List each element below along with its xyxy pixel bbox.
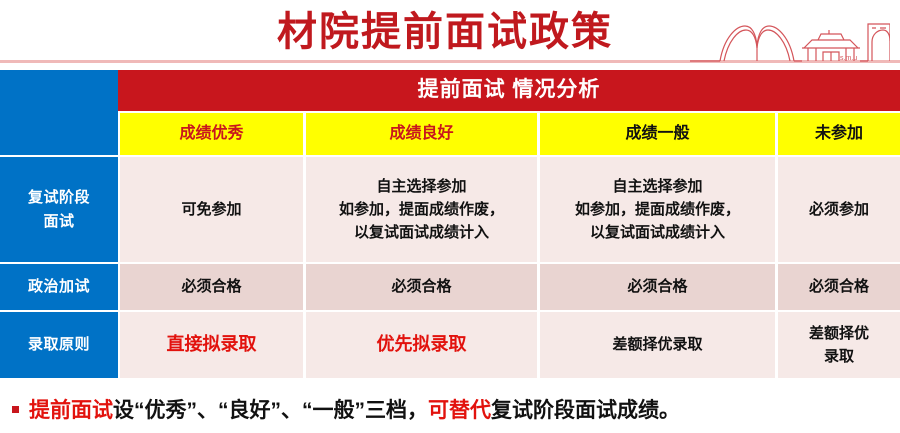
- column-header-average: 成绩一般: [540, 113, 775, 155]
- cell-line: 自主选择参加: [575, 175, 740, 198]
- footnote-segment-2: 设“优秀”、“良好”、“一般”三档，: [113, 399, 428, 422]
- table-cell-r2c1: 必须合格: [120, 264, 303, 310]
- policy-table: 提前面试 情况分析 成绩优秀 成绩良好 成绩一般 未参加 复试阶段 面试 可免参…: [0, 70, 900, 378]
- cell-line: 必须合格: [181, 275, 241, 298]
- row-header-political-test: 政治加试: [0, 264, 118, 310]
- table-cell-r2c2: 必须合格: [306, 264, 537, 310]
- table-corner-cell: [0, 70, 118, 155]
- cell-line: 自主选择参加: [339, 175, 504, 198]
- column-header-not-attended: 未参加: [778, 113, 900, 155]
- skyline-label: s.m.u: [840, 55, 857, 62]
- row-header-retest-interview: 复试阶段 面试: [0, 157, 118, 262]
- cell-line: 差额择优: [809, 322, 869, 345]
- cell-line: 直接拟录取: [167, 331, 257, 359]
- table-cell-r2c4: 必须合格: [778, 264, 900, 310]
- table-band-header: 提前面试 情况分析: [118, 70, 900, 111]
- table-cell-r1c3: 自主选择参加 如参加，提面成绩作废， 以复试面试成绩计入: [540, 157, 775, 262]
- cell-line: 如参加，提面成绩作废，: [339, 198, 504, 221]
- row-header-admission-principle: 录取原则: [0, 312, 118, 378]
- table-cell-r2c3: 必须合格: [540, 264, 775, 310]
- cell-line: 必须合格: [627, 275, 687, 298]
- table-cell-r3c3: 差额择优录取: [540, 312, 775, 378]
- footnote: 提前面试设“优秀”、“良好”、“一般”三档，可替代复试阶段面试成绩。: [0, 385, 900, 433]
- cell-line: 差额择优录取: [612, 333, 702, 356]
- row-header-line: 复试阶段: [28, 186, 90, 209]
- table-cell-r1c2: 自主选择参加 如参加，提面成绩作废， 以复试面试成绩计入: [306, 157, 537, 262]
- cell-line: 如参加，提面成绩作废，: [575, 198, 740, 221]
- column-header-excellent: 成绩优秀: [120, 113, 303, 155]
- cell-line: 以复试面试成绩计入: [575, 221, 740, 244]
- footnote-segment-1: 提前面试: [29, 399, 113, 422]
- table-cell-r3c4: 差额择优 录取: [778, 312, 900, 378]
- column-header-good: 成绩良好: [306, 113, 537, 155]
- campus-skyline-icon: s.m.u: [690, 16, 890, 64]
- footnote-segment-4: 复试阶段面试成绩。: [491, 399, 680, 422]
- row-header-line: 政治加试: [28, 275, 90, 298]
- table-cell-r1c1: 可免参加: [120, 157, 303, 262]
- cell-line: 可免参加: [181, 198, 241, 221]
- row-header-line: 面试: [28, 210, 90, 233]
- footnote-segment-3: 可替代: [428, 399, 491, 422]
- table-cell-r3c2: 优先拟录取: [306, 312, 537, 378]
- cell-line: 以复试面试成绩计入: [339, 221, 504, 244]
- row-header-line: 录取原则: [28, 333, 90, 356]
- cell-line: 录取: [809, 345, 869, 368]
- cell-line: 必须合格: [809, 275, 869, 298]
- cell-line: 必须参加: [809, 198, 869, 221]
- slide-header: 材院提前面试政策 s.m.u: [0, 0, 900, 66]
- table-cell-r1c4: 必须参加: [778, 157, 900, 262]
- square-bullet-icon: [12, 406, 19, 413]
- cell-line: 必须合格: [391, 275, 451, 298]
- table-cell-r3c1: 直接拟录取: [120, 312, 303, 378]
- cell-line: 优先拟录取: [377, 331, 467, 359]
- footnote-text: 提前面试设“优秀”、“良好”、“一般”三档，可替代复试阶段面试成绩。: [29, 394, 680, 424]
